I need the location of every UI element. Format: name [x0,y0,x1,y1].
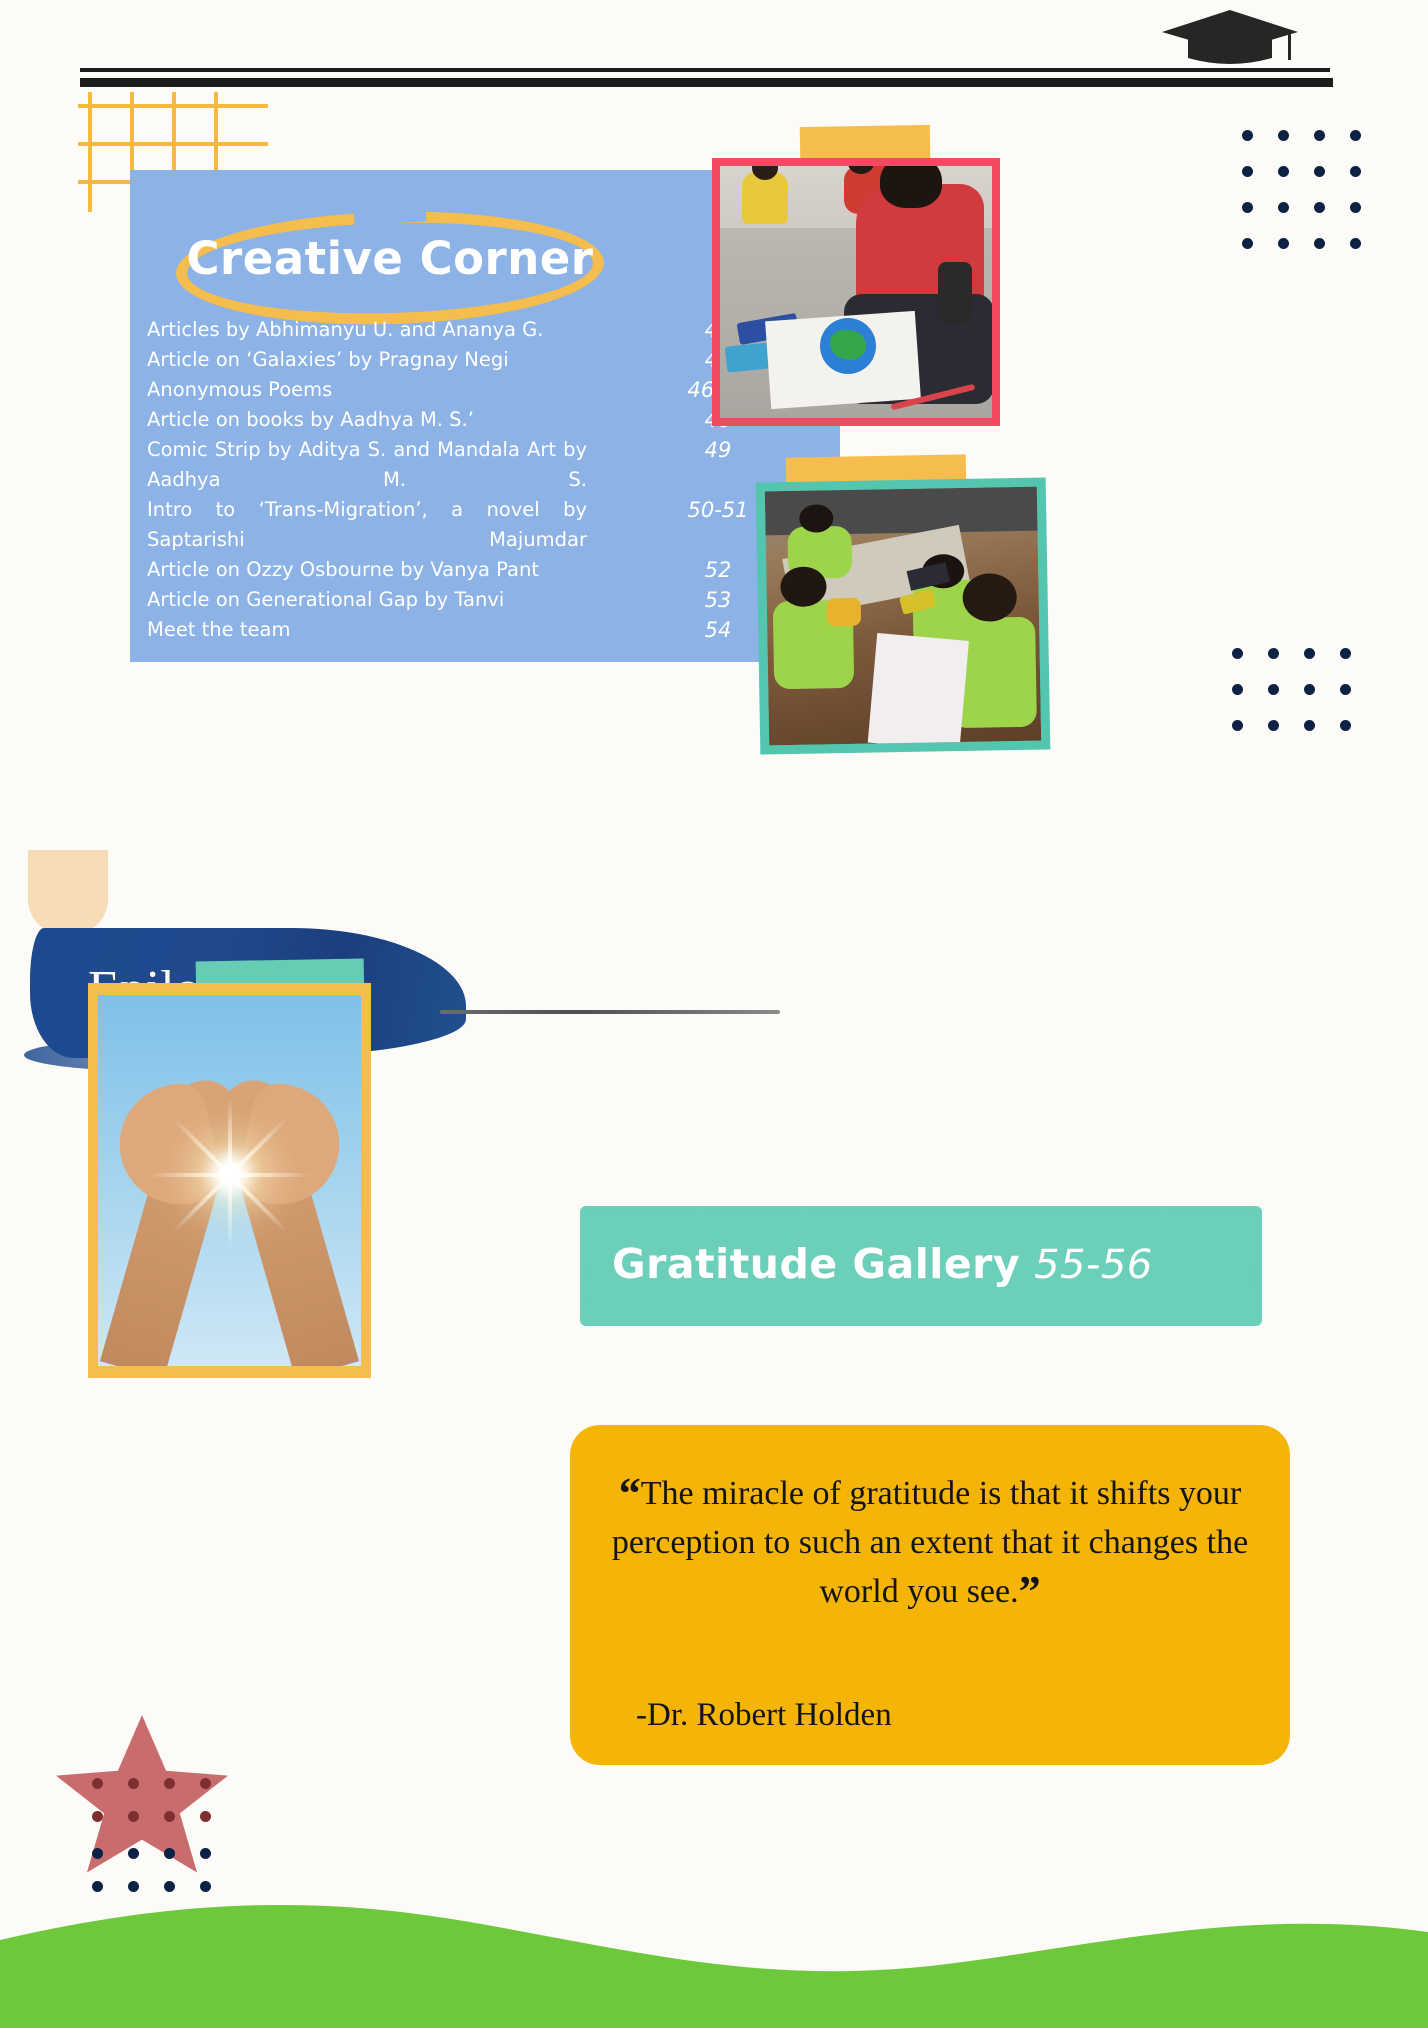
dot-grid-on-star [92,1778,212,1820]
quote-close-mark: ” [1019,1567,1041,1616]
header-rule-thin [80,68,1330,72]
toc-entry-label: Intro to ‘Trans-Migration’, a novel by S… [147,495,587,555]
toc-entry-label: Article on Ozzy Osbourne by Vanya Pant [147,555,587,585]
toc-entry-label: Article on Generational Gap by Tanvi [147,585,587,615]
toc-entry-label: Comic Strip by Aditya S. and Mandala Art… [147,435,587,495]
magazine-page: Creative Corner Articles by Abhimanyu U.… [0,0,1428,2028]
toc-row[interactable]: Article on Generational Gap by Tanvi53 [147,585,827,615]
gratitude-gallery-heading: Gratitude Gallery55-56 [612,1240,1252,1288]
gratitude-gallery-title: Gratitude Gallery [612,1240,1020,1288]
photo-students-painting-globe [712,158,1000,426]
creative-corner-title-group: Creative Corner [176,212,606,324]
toc-row[interactable]: Article on Ozzy Osbourne by Vanya Pant52 [147,555,827,585]
epilogue-rule [440,1010,780,1014]
toc-entry-label: Articles by Abhimanyu U. and Ananya G. [147,315,587,345]
toc-entry-label: Meet the team [147,615,587,645]
toc-row[interactable]: Comic Strip by Aditya S. and Mandala Art… [147,435,827,495]
toc-row[interactable]: Intro to ‘Trans-Migration’, a novel by S… [147,495,827,555]
dot-grid-pattern [1242,130,1362,240]
toc-entry-label: Article on ‘Galaxies’ by Pragnay Negi [147,345,587,375]
header-rule-thick [80,78,1333,87]
peach-blob-shape [28,850,108,936]
dot-grid-pattern-right [1232,648,1352,758]
toc-entry-label: Anonymous Poems [147,375,587,405]
green-wave-shape [0,1888,1428,2028]
photo-students-group-activity [756,477,1051,754]
gratitude-quote-card: “The miracle of gratitude is that it shi… [570,1425,1290,1765]
quote-text: The miracle of gratitude is that it shif… [612,1475,1248,1610]
washi-tape-yellow-1 [800,125,931,161]
quote-author: -Dr. Robert Holden [636,1697,892,1734]
ellipse-gap [354,203,427,224]
page-title: Creative Corner [176,232,604,285]
dot-grid-bottom-left [92,1848,212,1890]
toc-entry-label: Article on books by Aadhya M. S.’ [147,405,587,435]
toc-row[interactable]: Meet the team54 [147,615,827,645]
quote-open-mark: “ [619,1469,641,1518]
graduation-cap-icon [1160,8,1300,70]
photo-hands-holding-sunlight [88,983,371,1378]
quote-text-block: “The miracle of gratitude is that it shi… [610,1469,1250,1616]
gratitude-gallery-pages: 55-56 [1034,1242,1153,1288]
